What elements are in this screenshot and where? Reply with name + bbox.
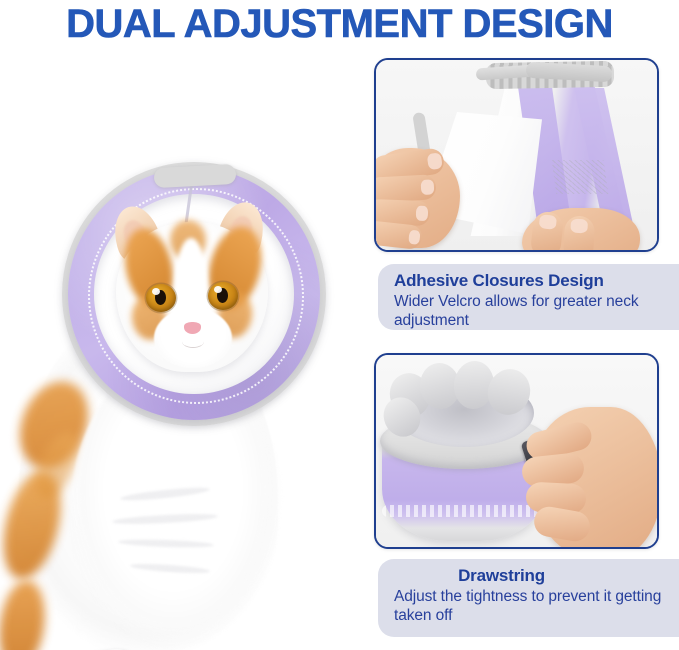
caption-drawstring: Drawstring Adjust the tightness to preve… [378, 559, 679, 637]
feature-photo-adhesive-closures [374, 58, 659, 252]
caption-title: Adhesive Closures Design [394, 270, 669, 292]
collar-top-strap [154, 164, 237, 188]
finger [563, 215, 595, 252]
cat-eye-left [146, 284, 176, 312]
caption-title: Drawstring [394, 565, 669, 587]
caption-adhesive-closures: Adhesive Closures Design Wider Velcro al… [378, 264, 679, 330]
caption-description: Wider Velcro allows for greater neck adj… [394, 292, 669, 330]
feature-photo-drawstring [374, 353, 659, 549]
finger [374, 174, 437, 203]
cat-eye-right [208, 282, 238, 310]
collar-mesh-texture [552, 160, 609, 194]
caption-description: Adjust the tightness to prevent it getti… [394, 587, 669, 625]
cat-mouth [182, 335, 204, 348]
hero-cat-photo [0, 60, 362, 650]
page-title: DUAL ADJUSTMENT DESIGN [0, 1, 679, 47]
collar-bottom-stitching [382, 505, 548, 517]
cat-head [92, 200, 292, 400]
